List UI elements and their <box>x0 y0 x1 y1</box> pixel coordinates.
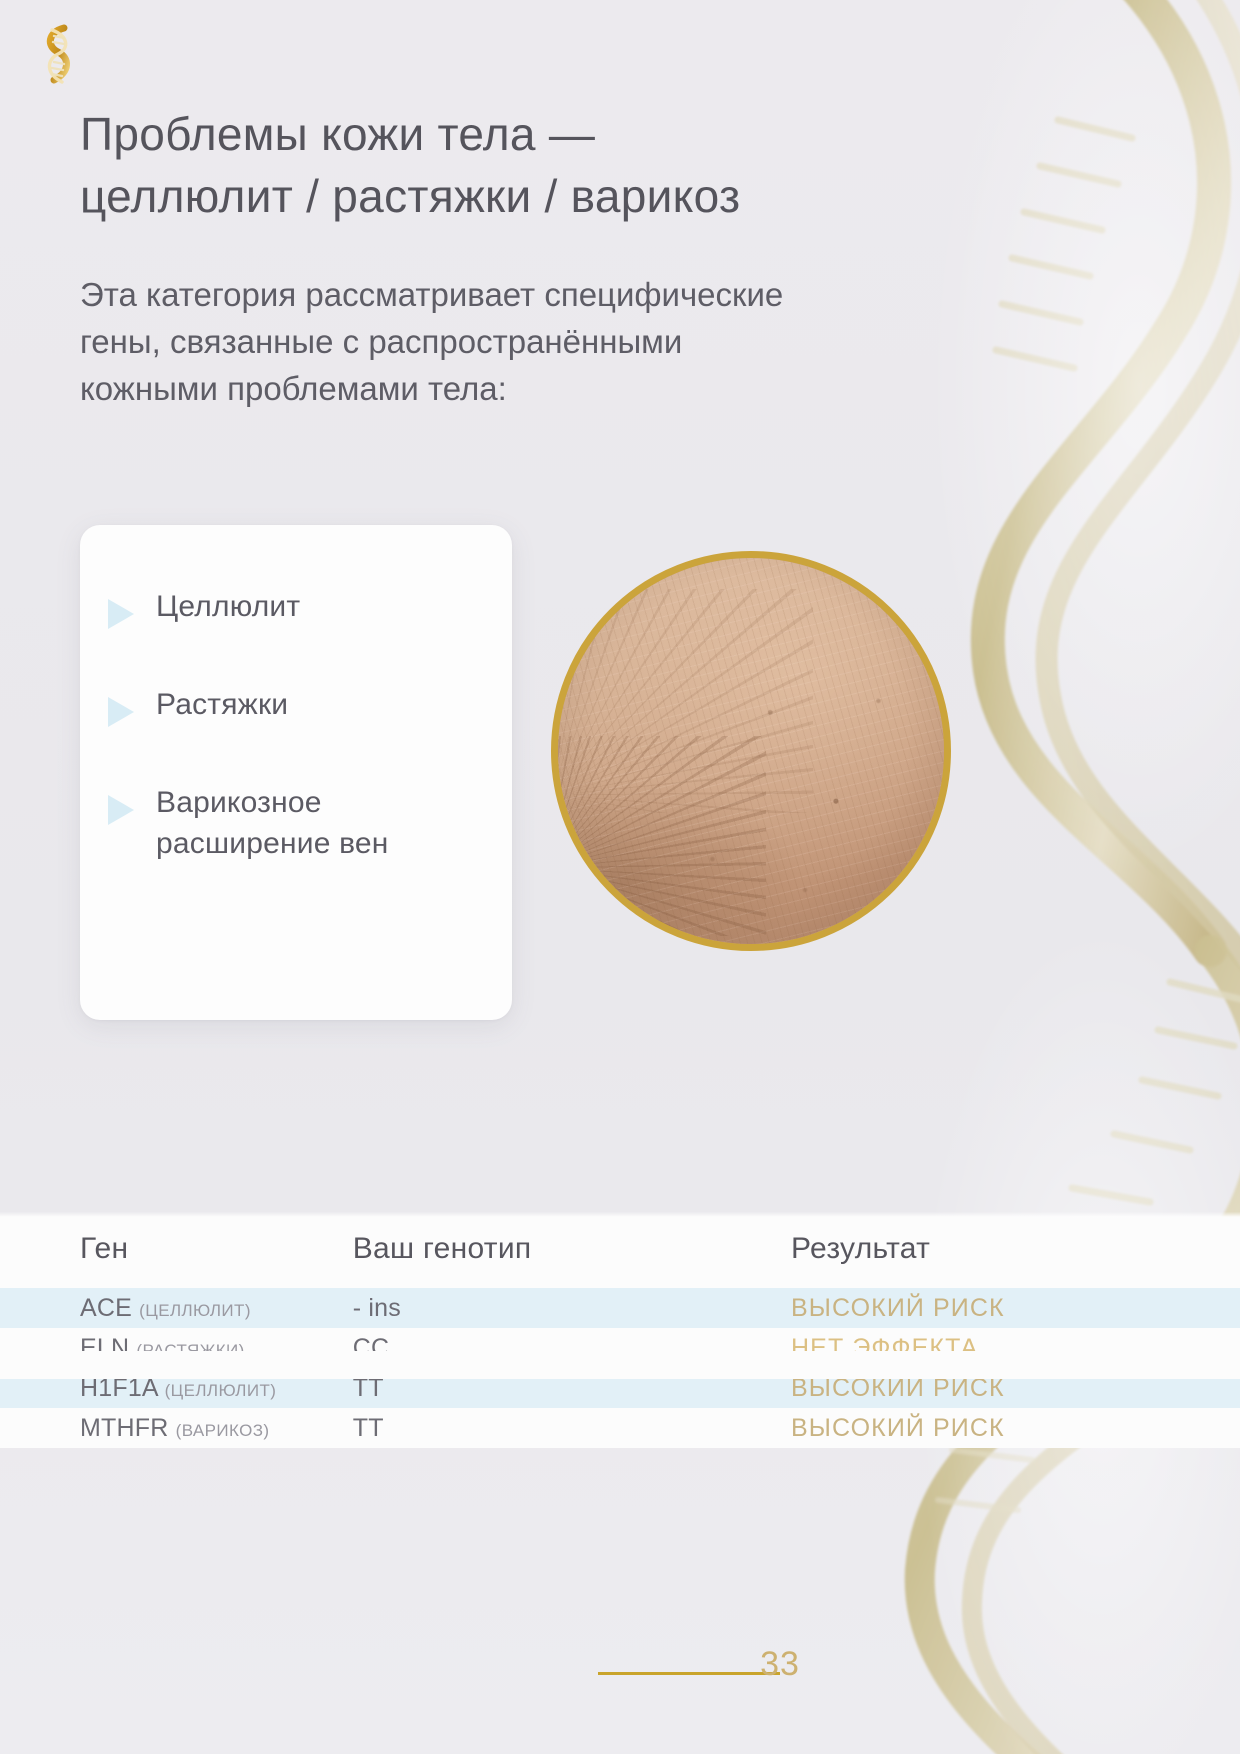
slide-page: Проблемы кожи тела — целлюлит / растяжки… <box>0 0 1240 1754</box>
table-row: ACE (ЦЕЛЛЮЛИТ) - ins ВЫСОКИЙ РИСК <box>0 1288 1240 1328</box>
triangle-bullet-icon <box>108 599 134 629</box>
page-number: 33 <box>735 1645 825 1684</box>
gene-name: MTHFR <box>80 1414 168 1442</box>
column-header-gene: Ген <box>0 1218 353 1288</box>
skin-photo <box>551 551 951 951</box>
gene-note: (ЦЕЛЛЮЛИТ) <box>139 1301 251 1320</box>
skin-photo-vignette <box>558 558 944 944</box>
cell-gene: MTHFR (ВАРИКОЗ) <box>0 1408 353 1448</box>
cell-result: ВЫСОКИЙ РИСК <box>791 1408 1240 1448</box>
list-item: Растяжки <box>108 685 484 727</box>
status-badge: ВЫСОКИЙ РИСК <box>791 1414 1005 1442</box>
gene-note: (ВАРИКОЗ) <box>176 1421 270 1440</box>
table-head: Ген Ваш генотип Результат <box>0 1218 1240 1288</box>
page-title-line-2: целлюлит / растяжки / варикоз <box>80 170 740 222</box>
bullet-list: Целлюлит Растяжки Варикозное расширение … <box>108 587 484 864</box>
column-header-result: Результат <box>791 1218 1240 1288</box>
gene-note: (ЦЕЛЛЮЛИТ) <box>165 1381 277 1400</box>
table-bottom-padding <box>0 1351 1240 1379</box>
list-item: Варикозное расширение вен <box>108 783 484 864</box>
bullet-label: Целлюлит <box>156 587 300 628</box>
intro-paragraph: Эта категория рассматривает специфически… <box>80 272 800 413</box>
page-title: Проблемы кожи тела — целлюлит / растяжки… <box>80 104 940 227</box>
cell-genotype: - ins <box>353 1288 791 1328</box>
gene-name: ACE <box>80 1294 132 1322</box>
table-row: MTHFR (ВАРИКОЗ) TT ВЫСОКИЙ РИСК <box>0 1408 1240 1448</box>
bullet-label: Растяжки <box>156 685 288 726</box>
page-title-line-1: Проблемы кожи тела — <box>80 108 595 160</box>
cell-genotype: TT <box>353 1408 791 1448</box>
table-header-row: Ген Ваш генотип Результат <box>0 1218 1240 1288</box>
status-badge: ВЫСОКИЙ РИСК <box>791 1294 1005 1322</box>
bullet-label: Варикозное расширение вен <box>156 783 484 864</box>
triangle-bullet-icon <box>108 697 134 727</box>
cell-gene: ACE (ЦЕЛЛЮЛИТ) <box>0 1288 353 1328</box>
bullet-card: Целлюлит Растяжки Варикозное расширение … <box>80 525 512 1020</box>
genotype-table: Ген Ваш генотип Результат ACE (ЦЕЛЛЮЛИТ)… <box>0 1218 1240 1448</box>
dna-helix-icon <box>30 20 86 92</box>
column-header-genotype: Ваш генотип <box>353 1218 791 1288</box>
genotype-table-wrapper: Ген Ваш генотип Результат ACE (ЦЕЛЛЮЛИТ)… <box>0 1218 1240 1448</box>
triangle-bullet-icon <box>108 795 134 825</box>
cell-result: ВЫСОКИЙ РИСК <box>791 1288 1240 1328</box>
list-item: Целлюлит <box>108 587 484 629</box>
